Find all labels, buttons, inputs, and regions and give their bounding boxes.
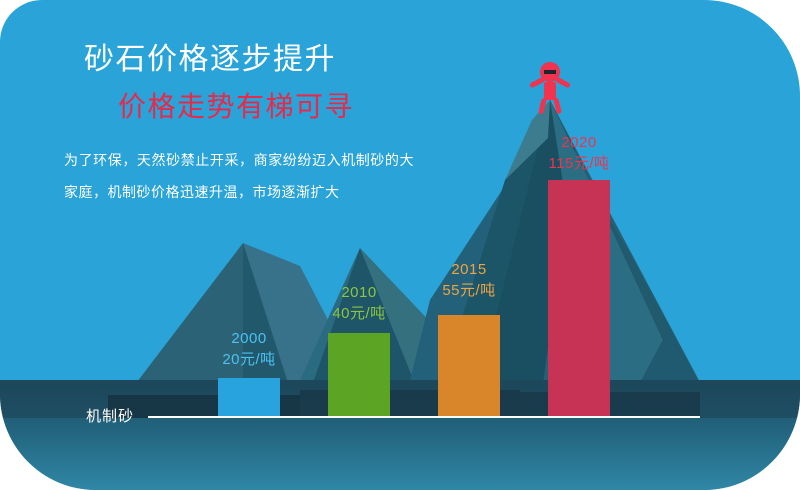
shore-dark-right bbox=[520, 392, 700, 418]
infographic-canvas: 2000 20元/吨 2010 40元/吨 2015 55元/吨 2020 11… bbox=[0, 0, 800, 490]
bar-value-2020: 115元/吨 bbox=[513, 153, 645, 174]
baseline-label: 机制砂 bbox=[86, 407, 134, 427]
climber-eye bbox=[544, 70, 556, 74]
bar-year-2000: 2000 bbox=[183, 328, 315, 349]
chart-baseline bbox=[148, 416, 700, 418]
bar-2020[interactable] bbox=[548, 180, 610, 416]
bar-label-2020: 2020 115元/吨 bbox=[513, 132, 645, 174]
bar-label-2000: 2000 20元/吨 bbox=[183, 328, 315, 370]
bar-year-2015: 2015 bbox=[403, 259, 535, 280]
bar-value-2015: 55元/吨 bbox=[403, 280, 535, 301]
climber-arm-right bbox=[555, 76, 571, 88]
bar-year-2020: 2020 bbox=[513, 132, 645, 153]
bar-value-2010: 40元/吨 bbox=[293, 303, 425, 324]
climber-torso bbox=[544, 82, 556, 100]
bar-2000[interactable] bbox=[218, 378, 280, 416]
bar-2010[interactable] bbox=[328, 333, 390, 416]
bar-value-2000: 20元/吨 bbox=[183, 349, 315, 370]
climber-arm-left bbox=[529, 76, 545, 88]
bar-2015[interactable] bbox=[438, 315, 500, 416]
bar-label-2015: 2015 55元/吨 bbox=[403, 259, 535, 301]
